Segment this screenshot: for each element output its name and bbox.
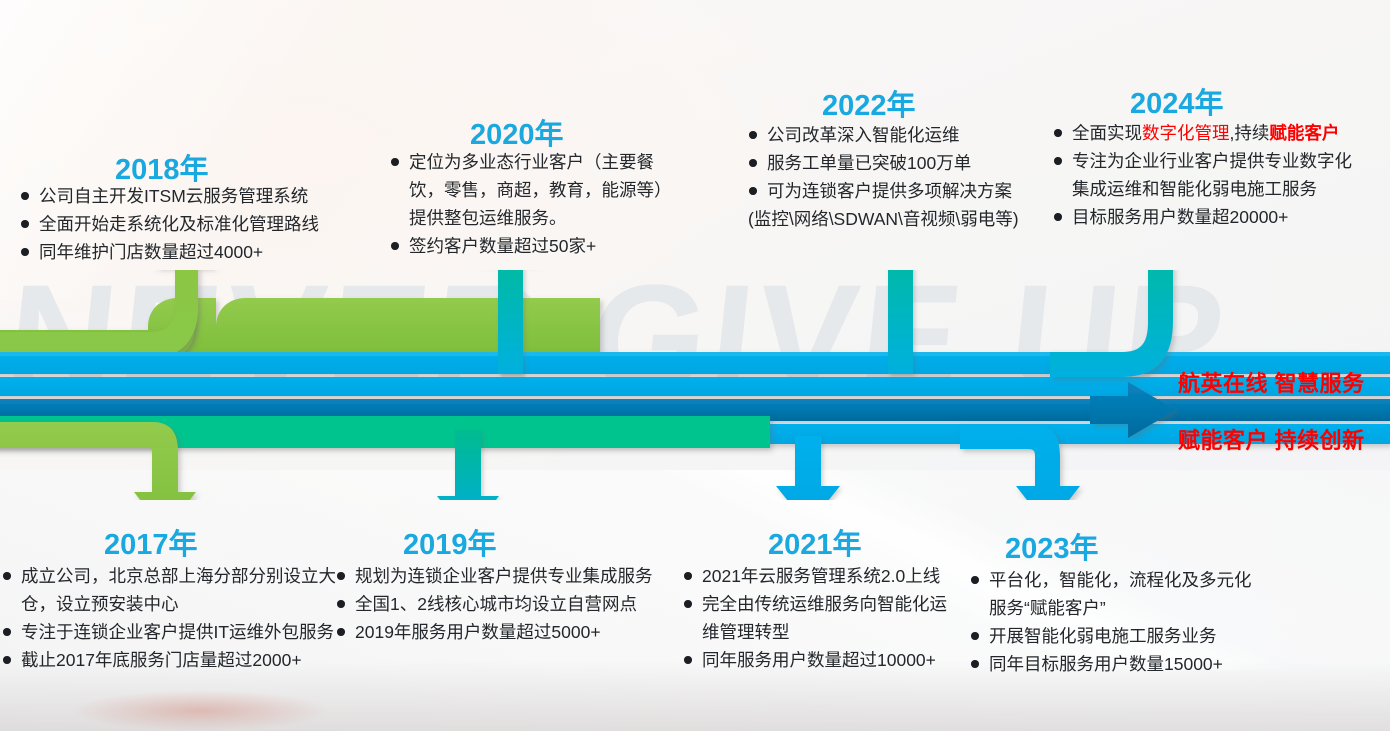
- bullet-list-2018: 公司自主开发ITSM云服务管理系统全面开始走系统化及标准化管理路线同年维护门店数…: [20, 182, 319, 266]
- bullet-text-segment: 集成运维和智能化弱电施工服务: [1072, 179, 1317, 199]
- bullet-text-segment: 定位为多业态行业客户（主要餐: [409, 152, 654, 172]
- bullet-item: 公司改革深入智能化运维: [748, 121, 1019, 149]
- bullet-dot-icon: [337, 600, 345, 608]
- bullet-dot-icon: [749, 187, 757, 195]
- ribbon-blue-band-a-top-hl: [0, 352, 1390, 356]
- bullet-text-segment: 目标服务用户数量超20000+: [1072, 207, 1288, 227]
- year-label-2017: 2017年: [104, 521, 198, 563]
- bullet-dot-icon: [1054, 213, 1062, 221]
- bullet-list-2019: 规划为连锁企业客户提供专业集成服务全国1、2线核心城市均设立自营网点2019年服…: [336, 562, 653, 646]
- bullet-dot-icon: [21, 248, 29, 256]
- bullet-text-segment: 全面实现: [1072, 123, 1142, 143]
- bullet-list-2024: 全面实现数字化管理,持续赋能客户专注为企业行业客户提供专业数字化集成运维和智能化…: [1053, 119, 1352, 231]
- bullet-item-continuation: 维管理转型: [683, 618, 947, 646]
- bullet-text-segment: 服务“赋能客户”: [989, 598, 1106, 618]
- bullet-text-segment: 开展智能化弱电施工服务业务: [989, 626, 1217, 646]
- background-red-tint: [70, 690, 330, 731]
- bullet-text-segment: 专注为企业行业客户提供专业数字化: [1072, 151, 1352, 171]
- bullet-item: 2019年服务用户数量超过5000+: [336, 618, 653, 646]
- bullet-text-segment: 公司改革深入智能化运维: [767, 125, 960, 145]
- bullet-dot-icon: [3, 656, 11, 664]
- year-label-2020: 2020年: [470, 111, 564, 153]
- bullet-text-segment: 饮，零售，商超，教育，能源等）: [409, 180, 672, 200]
- bullet-dot-icon: [391, 242, 399, 250]
- bullet-item-continuation: 服务“赋能客户”: [970, 594, 1252, 622]
- year-label-2022: 2022年: [822, 82, 916, 124]
- bullet-dot-icon: [3, 572, 11, 580]
- bullet-item-continuation: 饮，零售，商超，教育，能源等）: [390, 176, 672, 204]
- bullet-item: 同年维护门店数量超过4000+: [20, 238, 319, 266]
- bullet-item: 开展智能化弱电施工服务业务: [970, 622, 1252, 650]
- year-label-2019: 2019年: [403, 521, 497, 563]
- bullet-item: 2021年云服务管理系统2.0上线: [683, 562, 947, 590]
- bullet-item: 成立公司，北京总部上海分部分别设立大: [2, 562, 336, 590]
- bullet-text-segment: 规划为连锁企业客户提供专业集成服务: [355, 566, 653, 586]
- arrow-blue-down-2021: [776, 436, 840, 500]
- bullet-item: 目标服务用户数量超20000+: [1053, 203, 1352, 231]
- bullet-text-segment: 2019年服务用户数量超过5000+: [355, 622, 601, 642]
- year-label-2021: 2021年: [768, 521, 862, 563]
- infographic-canvas: NEVER GIVE UP: [0, 0, 1390, 731]
- bullet-item: 公司自主开发ITSM云服务管理系统: [20, 182, 319, 210]
- bullet-dot-icon: [391, 158, 399, 166]
- bullet-text-segment: 同年目标服务用户数量15000+: [989, 654, 1223, 674]
- bullet-dot-icon: [1054, 157, 1062, 165]
- bullet-item: 全面实现数字化管理,持续赋能客户: [1053, 119, 1352, 147]
- bullet-item-continuation: (监控\网络\SDWAN\音视频\弱电等): [748, 205, 1019, 233]
- bullet-text-segment: 成立公司，北京总部上海分部分别设立大: [21, 566, 336, 586]
- bullet-text-segment: 维管理转型: [702, 622, 790, 642]
- bullet-dot-icon: [1054, 129, 1062, 137]
- bullet-text-segment: ,持续: [1230, 123, 1270, 143]
- bullet-list-2017: 成立公司，北京总部上海分部分别设立大仓，设立预安装中心专注于连锁企业客户提供IT…: [2, 562, 336, 674]
- bullet-dot-icon: [3, 628, 11, 636]
- bullet-item: 同年服务用户数量超过10000+: [683, 646, 947, 674]
- bullet-dot-icon: [971, 576, 979, 584]
- bullet-item: 专注为企业行业客户提供专业数字化: [1053, 147, 1352, 175]
- bullet-item: 可为连锁客户提供多项解决方案: [748, 177, 1019, 205]
- bullet-text-segment: 完全由传统运维服务向智能化运: [702, 594, 947, 614]
- bullet-text-segment: 数字化管理: [1142, 123, 1230, 143]
- year-label-2024: 2024年: [1130, 80, 1224, 122]
- bullet-text-segment: 平台化，智能化，流程化及多元化: [989, 570, 1252, 590]
- bullet-item: 完全由传统运维服务向智能化运: [683, 590, 947, 618]
- bullet-text-segment: 截止2017年底服务门店量超过2000+: [21, 650, 302, 670]
- bullet-dot-icon: [684, 656, 692, 664]
- bullet-dot-icon: [971, 632, 979, 640]
- bullet-item: 专注于连锁企业客户提供IT运维外包服务: [2, 618, 336, 646]
- bullet-text-segment: 可为连锁客户提供多项解决方案: [767, 181, 1012, 201]
- bullet-text-segment: 2021年云服务管理系统2.0上线: [702, 566, 940, 586]
- bullet-list-2023: 平台化，智能化，流程化及多元化服务“赋能客户”开展智能化弱电施工服务业务同年目标…: [970, 566, 1252, 678]
- bullet-text-segment: (监控\网络\SDWAN\音视频\弱电等): [748, 209, 1019, 229]
- ribbon-green-up: [0, 270, 215, 358]
- bullet-list-2020: 定位为多业态行业客户（主要餐饮，零售，商超，教育，能源等）提供整包运维服务。签约…: [390, 148, 672, 260]
- bullet-text-segment: 仓，设立预安装中心: [21, 594, 179, 614]
- bullet-text-segment: 同年维护门店数量超过4000+: [39, 242, 263, 262]
- bullet-item: 平台化，智能化，流程化及多元化: [970, 566, 1252, 594]
- slogan-line-1: 航英在线 智慧服务: [1178, 366, 1365, 398]
- bullet-text-segment: 全国1、2线核心城市均设立自营网点: [355, 594, 637, 614]
- bullet-dot-icon: [337, 572, 345, 580]
- bullet-dot-icon: [684, 600, 692, 608]
- slogan-line-2: 赋能客户 持续创新: [1178, 423, 1365, 455]
- bullet-item: 规划为连锁企业客户提供专业集成服务: [336, 562, 653, 590]
- bullet-dot-icon: [337, 628, 345, 636]
- bullet-dot-icon: [749, 131, 757, 139]
- bullet-item: 全国1、2线核心城市均设立自营网点: [336, 590, 653, 618]
- bullet-dot-icon: [21, 220, 29, 228]
- bullet-list-2022: 公司改革深入智能化运维服务工单量已突破100万单可为连锁客户提供多项解决方案(监…: [748, 121, 1019, 233]
- bullet-item: 截止2017年底服务门店量超过2000+: [2, 646, 336, 674]
- bullet-dot-icon: [971, 660, 979, 668]
- bullet-item-continuation: 集成运维和智能化弱电施工服务: [1053, 175, 1352, 203]
- bullet-item: 服务工单量已突破100万单: [748, 149, 1019, 177]
- bullet-text-segment: 服务工单量已突破100万单: [767, 153, 971, 173]
- bullet-text-segment: 专注于连锁企业客户提供IT运维外包服务: [21, 622, 334, 642]
- bullet-dot-icon: [684, 572, 692, 580]
- bullet-item: 定位为多业态行业客户（主要餐: [390, 148, 672, 176]
- bullet-item: 全面开始走系统化及标准化管理路线: [20, 210, 319, 238]
- ribbon-green-down: [0, 422, 196, 500]
- year-label-2023: 2023年: [1005, 525, 1099, 567]
- bullet-text-segment: 公司自主开发ITSM云服务管理系统: [39, 186, 308, 206]
- bullet-text-segment: 全面开始走系统化及标准化管理路线: [39, 214, 319, 234]
- bullet-item-continuation: 仓，设立预安装中心: [2, 590, 336, 618]
- bullet-dot-icon: [21, 192, 29, 200]
- bullet-item-continuation: 提供整包运维服务。: [390, 204, 672, 232]
- bullet-text-segment: 签约客户数量超过50家+: [409, 236, 596, 256]
- bullet-item: 签约客户数量超过50家+: [390, 232, 672, 260]
- bullet-dot-icon: [749, 159, 757, 167]
- bullet-item: 同年目标服务用户数量15000+: [970, 650, 1252, 678]
- bullet-text-segment: 赋能客户: [1269, 123, 1339, 143]
- bullet-text-segment: 提供整包运维服务。: [409, 208, 567, 228]
- bullet-text-segment: 同年服务用户数量超过10000+: [702, 650, 936, 670]
- bullet-list-2021: 2021年云服务管理系统2.0上线完全由传统运维服务向智能化运维管理转型同年服务…: [683, 562, 947, 674]
